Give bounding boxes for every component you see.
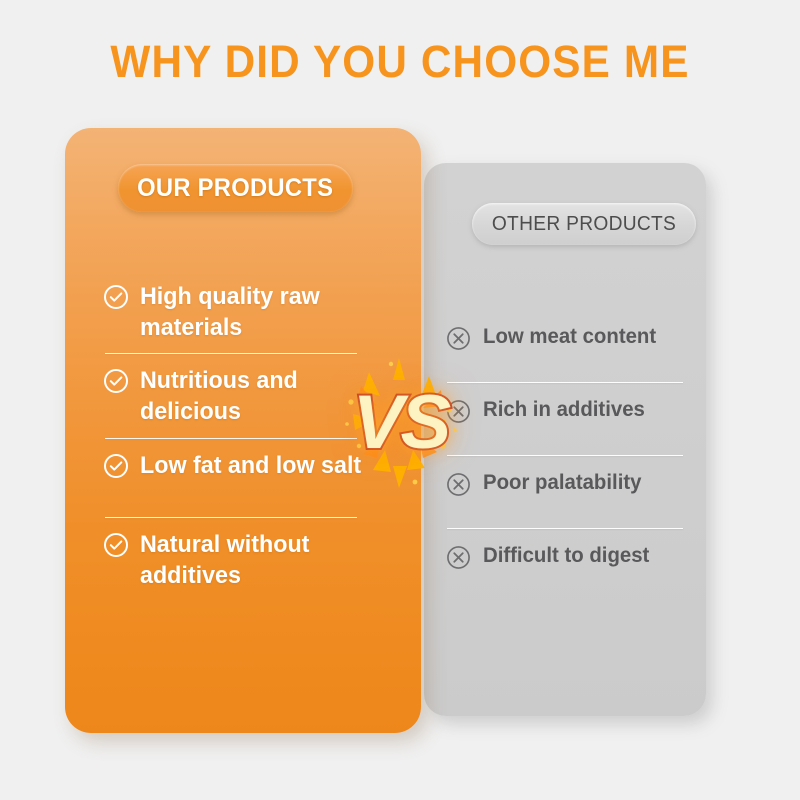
page-title: WHY DID YOU CHOOSE ME (24, 36, 776, 88)
our-products-badge-label: OUR PRODUCTS (137, 174, 333, 203)
list-item-label: High quality raw materials (140, 282, 385, 343)
list-item-label: Rich in additives (483, 397, 645, 423)
our-products-list: High quality raw materials Nutritious an… (103, 276, 393, 595)
list-divider (447, 528, 683, 529)
list-divider (447, 455, 683, 456)
list-item: High quality raw materials (103, 276, 393, 347)
list-item: Difficult to digest (446, 534, 694, 596)
other-products-list: Low meat content Rich in additives Poor … (446, 315, 694, 596)
x-circle-icon (446, 545, 471, 570)
our-products-panel: OUR PRODUCTS High quality raw materials … (65, 128, 421, 733)
list-item-label: Poor palatability (483, 470, 641, 496)
other-products-badge: OTHER PRODUCTS (472, 203, 696, 245)
list-item-label: Nutritious and delicious (140, 366, 385, 427)
check-circle-icon (103, 284, 129, 310)
check-circle-icon (103, 368, 129, 394)
check-circle-icon (103, 532, 129, 558)
other-products-panel: OTHER PRODUCTS Low meat content Rich in … (424, 163, 706, 716)
list-item-label: Low meat content (483, 324, 656, 350)
list-item-label: Low fat and low salt (140, 451, 361, 482)
list-item-label: Difficult to digest (483, 543, 649, 569)
x-circle-icon (446, 399, 471, 424)
check-circle-icon (103, 453, 129, 479)
list-divider (447, 382, 683, 383)
x-circle-icon (446, 326, 471, 351)
list-item: Natural without additives (103, 524, 393, 595)
list-item: Rich in additives (446, 388, 694, 450)
our-products-badge: OUR PRODUCTS (118, 164, 353, 212)
list-divider (105, 438, 357, 439)
list-item-label: Natural without additives (140, 530, 385, 591)
x-circle-icon (446, 472, 471, 497)
other-products-badge-label: OTHER PRODUCTS (492, 213, 676, 236)
list-item: Low meat content (446, 315, 694, 377)
list-item: Poor palatability (446, 461, 694, 523)
list-divider (105, 353, 357, 354)
list-item: Low fat and low salt (103, 445, 393, 511)
list-divider (105, 517, 357, 518)
list-item: Nutritious and delicious (103, 360, 393, 431)
